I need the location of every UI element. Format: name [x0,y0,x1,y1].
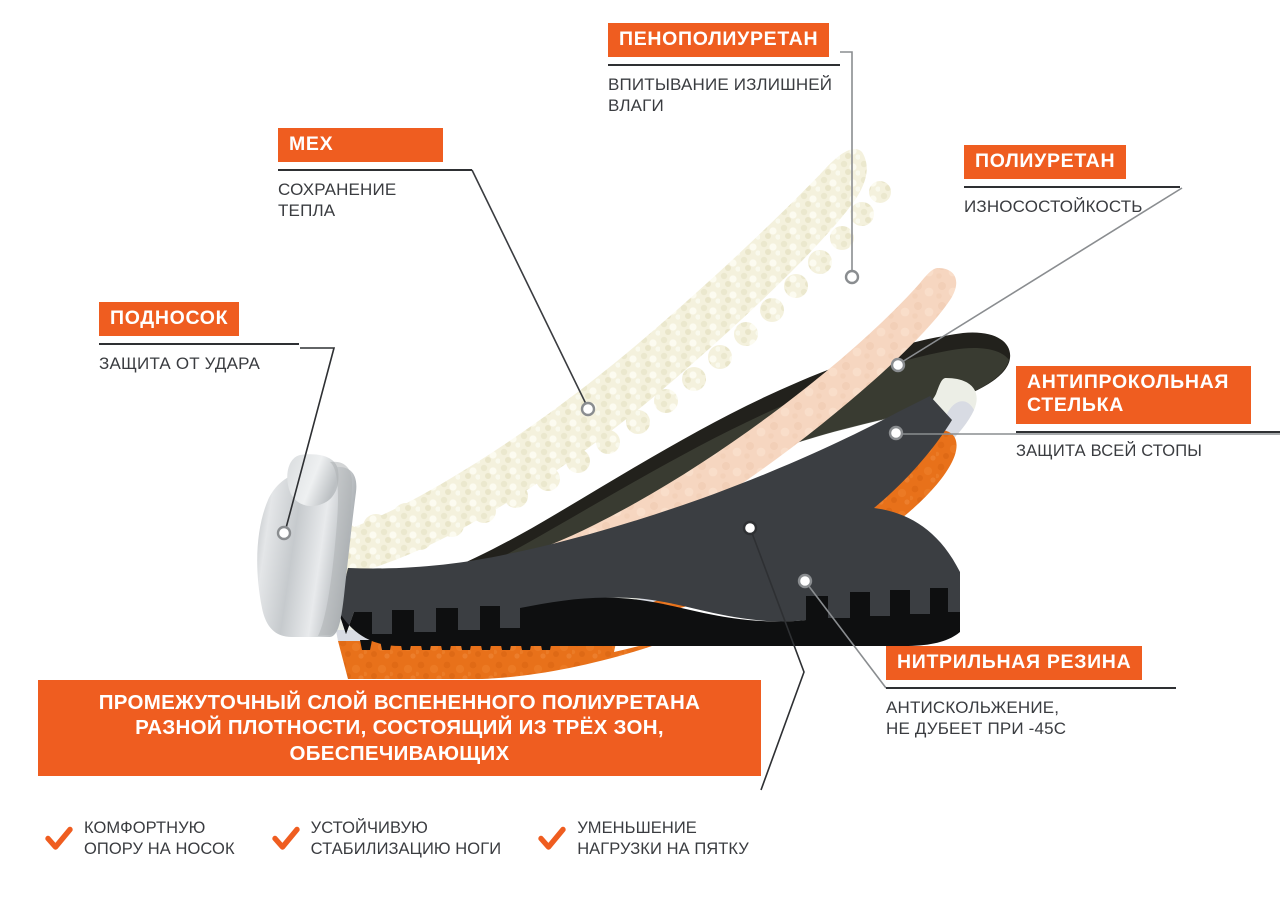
benefit-label: КОМФОРТНУЮ ОПОРУ НА НОСОК [84,818,235,860]
callout-rule [99,343,299,345]
midsole-banner-text: ПРОМЕЖУТОЧНЫЙ СЛОЙ ВСПЕНЕННОГО ПОЛИУРЕТА… [99,690,701,766]
midsole-banner: ПРОМЕЖУТОЧНЫЙ СЛОЙ ВСПЕНЕННОГО ПОЛИУРЕТА… [38,680,761,776]
callout-title-poliuretan: ПОЛИУРЕТАН [964,145,1126,179]
callout-title-antiprokolnaya-stelka: АНТИПРОКОЛЬНАЯ СТЕЛЬКА [1016,366,1251,424]
callout-podnosok: ПОДНОСОК ЗАЩИТА ОТ УДАРА [99,302,273,374]
benefit-item: КОМФОРТНУЮ ОПОРУ НА НОСОК [44,818,235,860]
callout-desc-poliuretan: ИЗНОСОСТОЙКОСТЬ [964,196,1147,217]
callout-rule [964,186,1180,188]
check-icon [271,824,301,854]
callout-title-nitrilnaya-rezina: НИТРИЛЬНАЯ РЕЗИНА [886,646,1142,680]
benefit-item: УСТОЙЧИВУЮ СТАБИЛИЗАЦИЮ НОГИ [271,818,502,860]
callout-rule [1016,431,1280,433]
callout-poliuretan: ПОЛИУРЕТАН ИЗНОСОСТОЙКОСТЬ [964,145,1147,217]
callout-desc-penopoliuretan: ВПИТЫВАНИЕ ИЗЛИШНЕЙ ВЛАГИ [608,74,840,117]
leader-meh [472,170,586,404]
callout-title-penopoliuretan: ПЕНОПОЛИУРЕТАН [608,23,829,57]
benefit-label: УСТОЙЧИВУЮ СТАБИЛИЗАЦИЮ НОГИ [311,818,502,860]
check-icon [537,824,567,854]
callout-penopoliuretan: ПЕНОПОЛИУРЕТАН ВПИТЫВАНИЕ ИЗЛИШНЕЙ ВЛАГИ [608,23,840,117]
callout-antiprokolnaya-stelka: АНТИПРОКОЛЬНАЯ СТЕЛЬКА ЗАЩИТА ВСЕЙ СТОПЫ [1016,366,1251,462]
benefit-item: УМЕНЬШЕНИЕ НАГРУЗКИ НА ПЯТКУ [537,818,749,860]
callout-nitrilnaya-rezina: НИТРИЛЬНАЯ РЕЗИНА АНТИСКОЛЬЖЕНИЕ, НЕ ДУБ… [886,646,1166,740]
check-icon [44,824,74,854]
layer-steel-toe-cap [257,454,356,637]
callout-rule [886,687,1176,689]
callout-desc-meh: СОХРАНЕНИЕ ТЕПЛА [278,179,443,222]
callout-desc-podnosok: ЗАЩИТА ОТ УДАРА [99,353,273,374]
callout-meh: МЕХ СОХРАНЕНИЕ ТЕПЛА [278,128,443,222]
infographic-canvas: ПЕНОПОЛИУРЕТАН ВПИТЫВАНИЕ ИЗЛИШНЕЙ ВЛАГИ… [0,0,1280,897]
benefits-list: КОМФОРТНУЮ ОПОРУ НА НОСОК УСТОЙЧИВУЮ СТА… [44,818,785,860]
callout-title-meh: МЕХ [278,128,443,162]
callout-rule [608,64,840,66]
callout-desc-nitrilnaya-rezina: АНТИСКОЛЬЖЕНИЕ, НЕ ДУБЕЕТ ПРИ -45С [886,697,1166,740]
callout-desc-antiprokolnaya-stelka: ЗАЩИТА ВСЕЙ СТОПЫ [1016,441,1251,462]
callout-title-podnosok: ПОДНОСОК [99,302,239,336]
callout-rule [278,169,472,171]
benefit-label: УМЕНЬШЕНИЕ НАГРУЗКИ НА ПЯТКУ [577,818,749,860]
